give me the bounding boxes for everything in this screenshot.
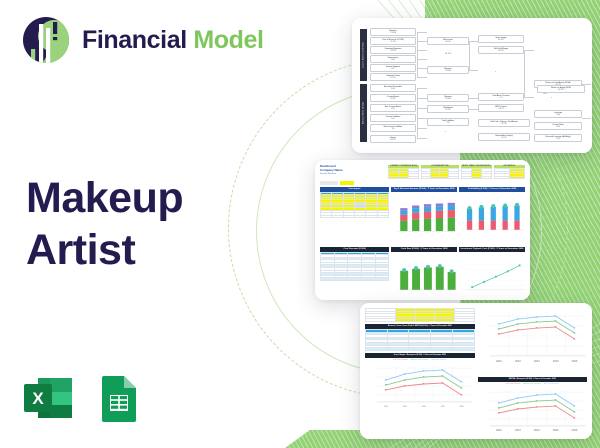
node-opex: Operating Expenses113,708	[370, 46, 416, 54]
svg-text:2023: 2023	[514, 428, 520, 432]
node-current-liabilities: Current Liabilities8,09	[370, 114, 416, 122]
node-equity: Equity60,210	[370, 135, 416, 143]
dashboard-sheet: Dashboard Company Name Security Solution…	[320, 165, 525, 295]
svg-text:2025: 2025	[441, 406, 445, 408]
node-roe: Return on Equity (ROE)80.23%	[537, 85, 585, 93]
svg-text:2023: 2023	[403, 406, 407, 408]
node-net-profit-margin: Net Profit Margin18.13%	[478, 46, 524, 54]
svg-text:2026: 2026	[571, 428, 577, 432]
node-financial-leverage: Financial Leverage (Act/Eqty)1.142	[534, 134, 582, 142]
chart-revenue-costs: 2022 2023 2024 2025 2026	[478, 308, 588, 370]
screenshot-card-dupont-flowchart[interactable]: Income Statement ($ 000) Balance Sheet (…	[352, 18, 592, 153]
svg-text:2025: 2025	[552, 428, 558, 432]
node-shareholders-equity: Shareholder's Equity60,210	[478, 133, 530, 141]
svg-text:2024: 2024	[422, 406, 426, 408]
financial-model-circle-logo	[22, 16, 70, 64]
node-ar-turnover: A/R Turnover206.24	[478, 104, 524, 112]
node-cogs: Cost of Revenue (COGS)91,588	[370, 37, 416, 45]
chart-profitability	[459, 192, 525, 244]
svg-text:2026: 2026	[460, 406, 464, 408]
chart-gross-margin: 2022 2023 2024 2025 2026	[365, 362, 475, 410]
svg-text:2022: 2022	[496, 359, 502, 363]
band-income-statement: Income Statement ($ 000)	[360, 29, 367, 81]
screenshot-card-statements[interactable]: Revenue, Costs, Gross Profit & EBITDA ($…	[360, 303, 592, 439]
node-interest: Interest Expense637	[370, 64, 416, 72]
mini-table-currency: CURRENCY CONVERSION ($ 000)	[388, 165, 419, 185]
panel-cost-inputs: Cost Inputs	[320, 187, 389, 245]
node-current-ratio: Current Ratio16.44	[534, 122, 582, 130]
panel-assumptions-table	[365, 308, 475, 322]
node-revenue-3: Revenue272,800	[427, 94, 469, 102]
page-title-line-2: Artist	[26, 224, 183, 276]
svg-text:2024: 2024	[533, 359, 539, 363]
panel-revenue-streams: Top 5 Revenue Streams ($ 000) - 5 Years …	[391, 187, 457, 245]
node-taxes: Corporate Taxes16,220	[370, 73, 416, 81]
mini-table-key-metrics: KEY METRICS	[494, 165, 525, 185]
svg-text:2024: 2024	[533, 428, 539, 432]
panel-investment-payback: Investment Payback Cost ($ 000) - 5 Year…	[459, 247, 525, 301]
node-noncurrent-liabilities: Non-Current Liabilities130	[370, 124, 416, 132]
dupont-flowchart: Income Statement ($ 000) Balance Sheet (…	[357, 23, 587, 148]
node-leverage: Leverage1.086	[534, 110, 582, 118]
node-liab-equity-assets: Total Liab + Equity = Total Assets68,749	[478, 119, 530, 127]
node-current-assets: Current Assets64,558	[370, 94, 416, 102]
chart-cash-flow	[391, 252, 457, 301]
excel-icon[interactable]: X	[22, 372, 74, 429]
mini-table-cost-assumptions: COST ASSUMPTIONS	[421, 165, 458, 185]
svg-text:2025: 2025	[552, 359, 558, 363]
node-net-income: Net Income48,610	[427, 37, 469, 45]
brand-name: Financial Model	[82, 28, 264, 53]
node-asset-turnover: Total Asset Turnover4.15	[478, 93, 524, 101]
mini-table-profit-inputs: PROFIT, STAFF & GROWTH INPUTS	[461, 165, 492, 185]
band-balance-sheet: Balance Sheet ($ 000)	[360, 84, 367, 142]
operator-multiply-2: x	[551, 97, 552, 99]
svg-text:2022: 2022	[384, 406, 388, 408]
panel-statement-table: Revenue, Costs, Gross Profit & EBITDA ($…	[365, 324, 475, 351]
brand-name-part-2: Model	[193, 26, 263, 54]
ratio-margin-mid: 18.13%	[445, 53, 451, 55]
operator-equals: =	[445, 131, 446, 133]
node-total-assets: Total Assets68,749	[427, 105, 469, 113]
chart-investment-payback	[459, 252, 525, 301]
operator-multiply-1: x	[495, 71, 496, 73]
chart-ebitda: 2022 2023 2024 2025 2026	[478, 386, 588, 434]
screenshot-card-dashboard[interactable]: Dashboard Company Name Security Solution…	[315, 160, 530, 300]
svg-text:2026: 2026	[571, 359, 577, 363]
svg-text:X: X	[32, 389, 44, 408]
page-title: Makeup Artist	[26, 172, 183, 277]
node-noncurrent-assets: Non-Current Assets4,191	[370, 104, 416, 112]
node-gross-margin: Gross margin66.43%	[478, 35, 524, 43]
node-revenue-2: Revenue272,800	[427, 66, 469, 74]
file-format-icons: X	[22, 372, 144, 429]
page-title-line-1: Makeup	[26, 172, 183, 224]
brand-name-part-1: Financial	[82, 26, 193, 54]
promo-banner: Financial Model Makeup Artist X	[0, 0, 600, 448]
node-revenue: Revenue272,800	[370, 28, 416, 36]
dashboard-subtitle: Security Solutions	[320, 173, 386, 175]
node-depreciation: Depreciation1,385	[370, 55, 416, 63]
svg-text:2022: 2022	[496, 428, 502, 432]
google-sheets-icon[interactable]	[92, 372, 144, 429]
panel-gross-margin-chart: Gross Margin / Enterprise ($ 000) - 5 Ye…	[365, 353, 475, 434]
panel-cost-forecast: Cost Forecast ($ 000)	[320, 247, 389, 301]
node-ar: Accounts Receivable8,984	[370, 84, 416, 92]
panel-profitability: Profitability ($ 000) - 5 Years to Decem…	[459, 187, 525, 245]
chart-revenue-streams	[391, 192, 457, 244]
svg-text:2023: 2023	[514, 359, 520, 363]
panel-ebitda-chart: EBITDA / Enterprise ($ 000) - 5 Years to…	[478, 377, 588, 439]
panel-revenue-costs-chart: 2022 2023 2024 2025 2026	[478, 308, 588, 375]
node-total-liabilities: Total Liabilities939	[427, 118, 469, 126]
panel-cash-flow: Cash flow ($ 000) - 5 Years to December …	[391, 247, 457, 301]
brand-logo[interactable]: Financial Model	[22, 16, 264, 64]
